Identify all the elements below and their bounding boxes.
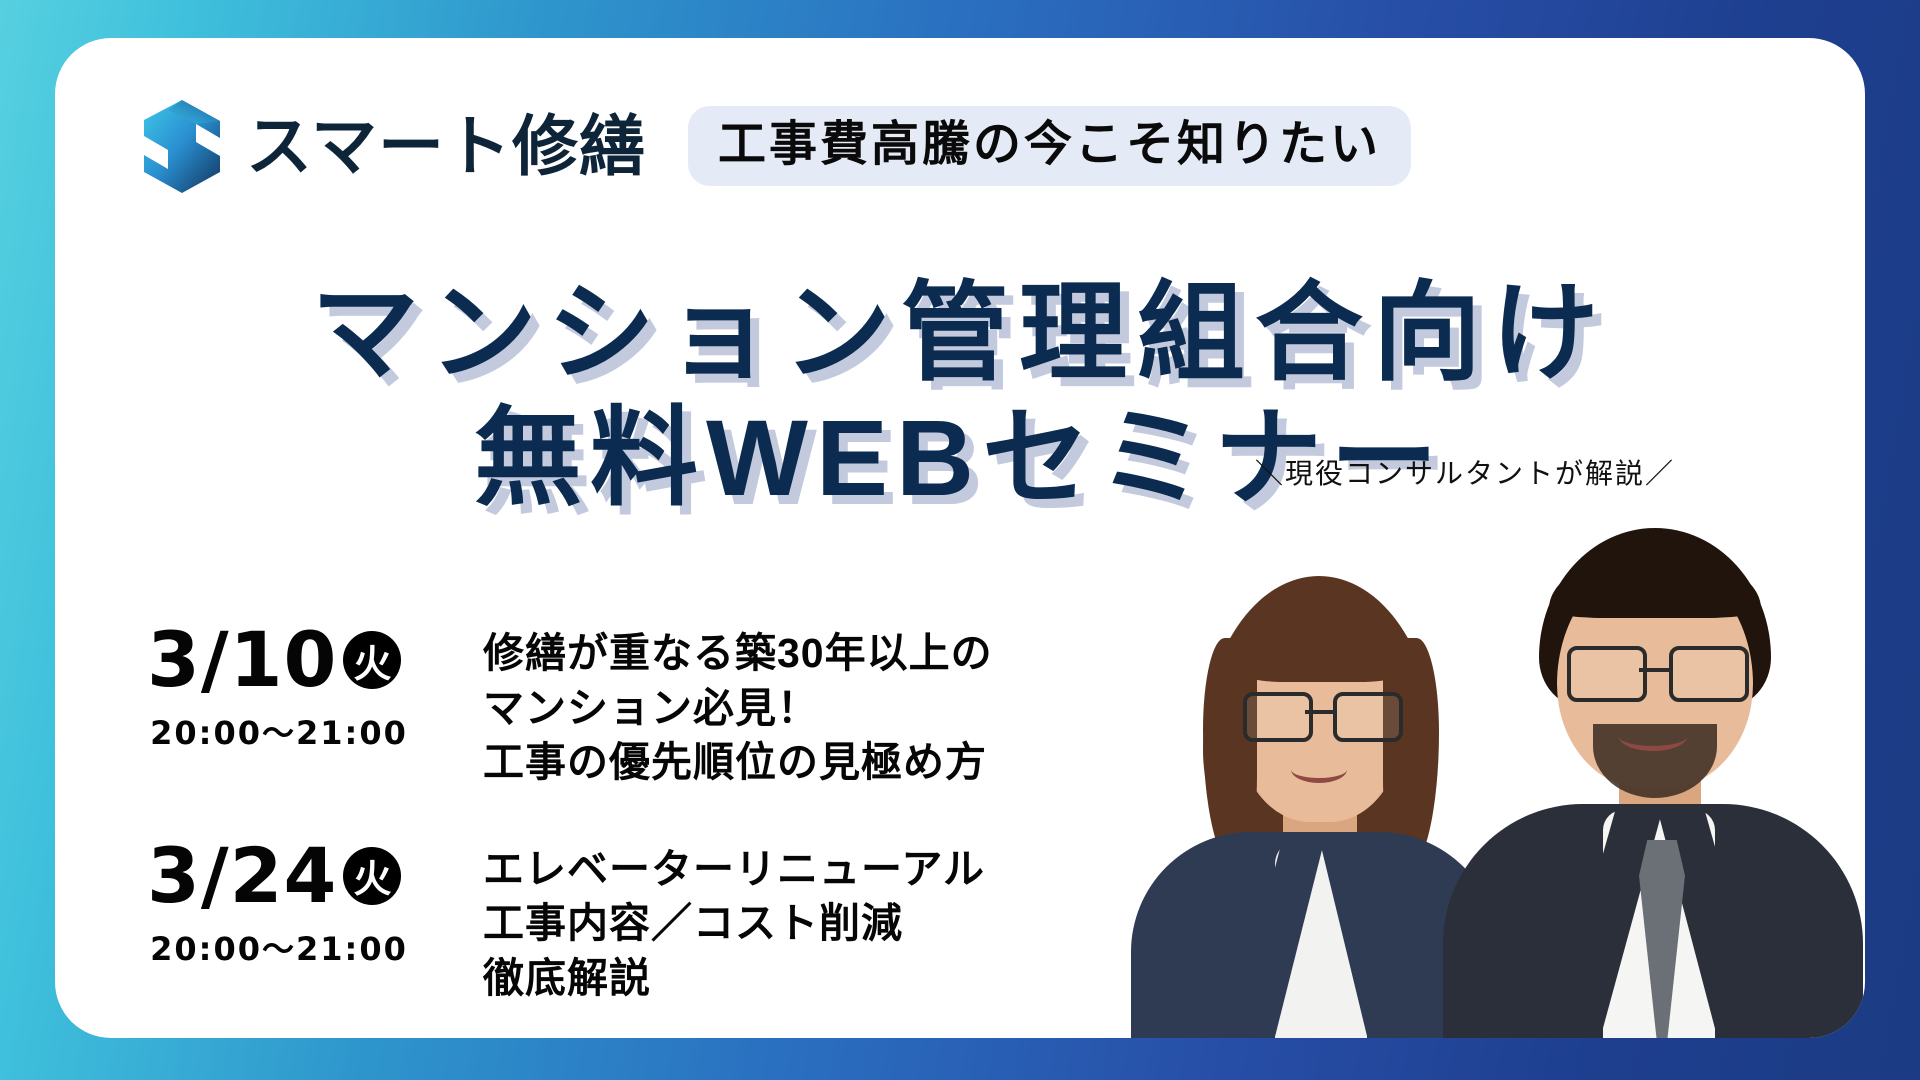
glasses-bridge — [1305, 710, 1333, 714]
session-when: 3/24 火 20:00〜21:00 — [147, 836, 465, 970]
session-item: 3/24 火 20:00〜21:00 エレベーターリニューアル 工事内容／コスト… — [147, 836, 1167, 1006]
session-date-row: 3/10 火 — [147, 622, 465, 698]
header-badge: 工事費高騰の今こそ知りたい — [688, 106, 1411, 187]
schedule-list: 3/10 火 20:00〜21:00 修繕が重なる築30年以上の マンション必見… — [147, 620, 1167, 1005]
session-item: 3/10 火 20:00〜21:00 修繕が重なる築30年以上の マンション必見… — [147, 620, 1167, 790]
session-date: 3/10 — [147, 622, 337, 698]
session-description-line: マンション必見！ — [483, 681, 993, 736]
session-description-line: 工事内容／コスト削減 — [483, 896, 985, 951]
header: スマート修繕 工事費高騰の今こそ知りたい — [140, 98, 1411, 194]
session-when: 3/10 火 20:00〜21:00 — [147, 620, 465, 754]
glasses-icon — [1669, 646, 1749, 702]
session-description-line: エレベーターリニューアル — [483, 842, 985, 897]
session-description-line: 修繕が重なる築30年以上の — [483, 626, 993, 681]
session-date: 3/24 — [147, 838, 337, 914]
smile-shape — [1291, 756, 1347, 783]
session-time: 20:00〜21:00 — [147, 708, 465, 754]
day-of-week-badge: 火 — [343, 847, 401, 905]
seminar-banner: スマート修繕 工事費高騰の今こそ知りたい マンション管理組合向け 無料WEBセミ… — [0, 0, 1920, 1080]
glasses-icon — [1333, 692, 1403, 742]
brand-name: スマート修繕 — [246, 113, 646, 179]
title-line-1: マンション管理組合向け — [55, 270, 1865, 395]
content-card: スマート修繕 工事費高騰の今こそ知りたい マンション管理組合向け 無料WEBセミ… — [55, 38, 1865, 1038]
glasses-bridge — [1639, 668, 1669, 672]
day-of-week-badge: 火 — [343, 631, 401, 689]
speakers-section: ＼現役コンサルタントが解説／ — [1065, 478, 1865, 1038]
glasses-icon — [1243, 692, 1313, 742]
session-description-line: 徹底解説 — [483, 951, 985, 1006]
speaker-caption: ＼現役コンサルタントが解説／ — [1105, 452, 1825, 492]
smile-shape — [1619, 722, 1687, 751]
male-consultant-photo — [1443, 518, 1863, 1038]
session-date-row: 3/24 火 — [147, 838, 465, 914]
session-description-line: 工事の優先順位の見極め方 — [483, 735, 993, 790]
smart-shuzen-logo-icon — [140, 98, 224, 194]
session-description: 修繕が重なる築30年以上の マンション必見！ 工事の優先順位の見極め方 — [483, 620, 993, 790]
session-time: 20:00〜21:00 — [147, 924, 465, 970]
session-description: エレベーターリニューアル 工事内容／コスト削減 徹底解説 — [483, 836, 985, 1006]
glasses-icon — [1567, 646, 1647, 702]
brand-lockup: スマート修繕 — [140, 98, 646, 194]
